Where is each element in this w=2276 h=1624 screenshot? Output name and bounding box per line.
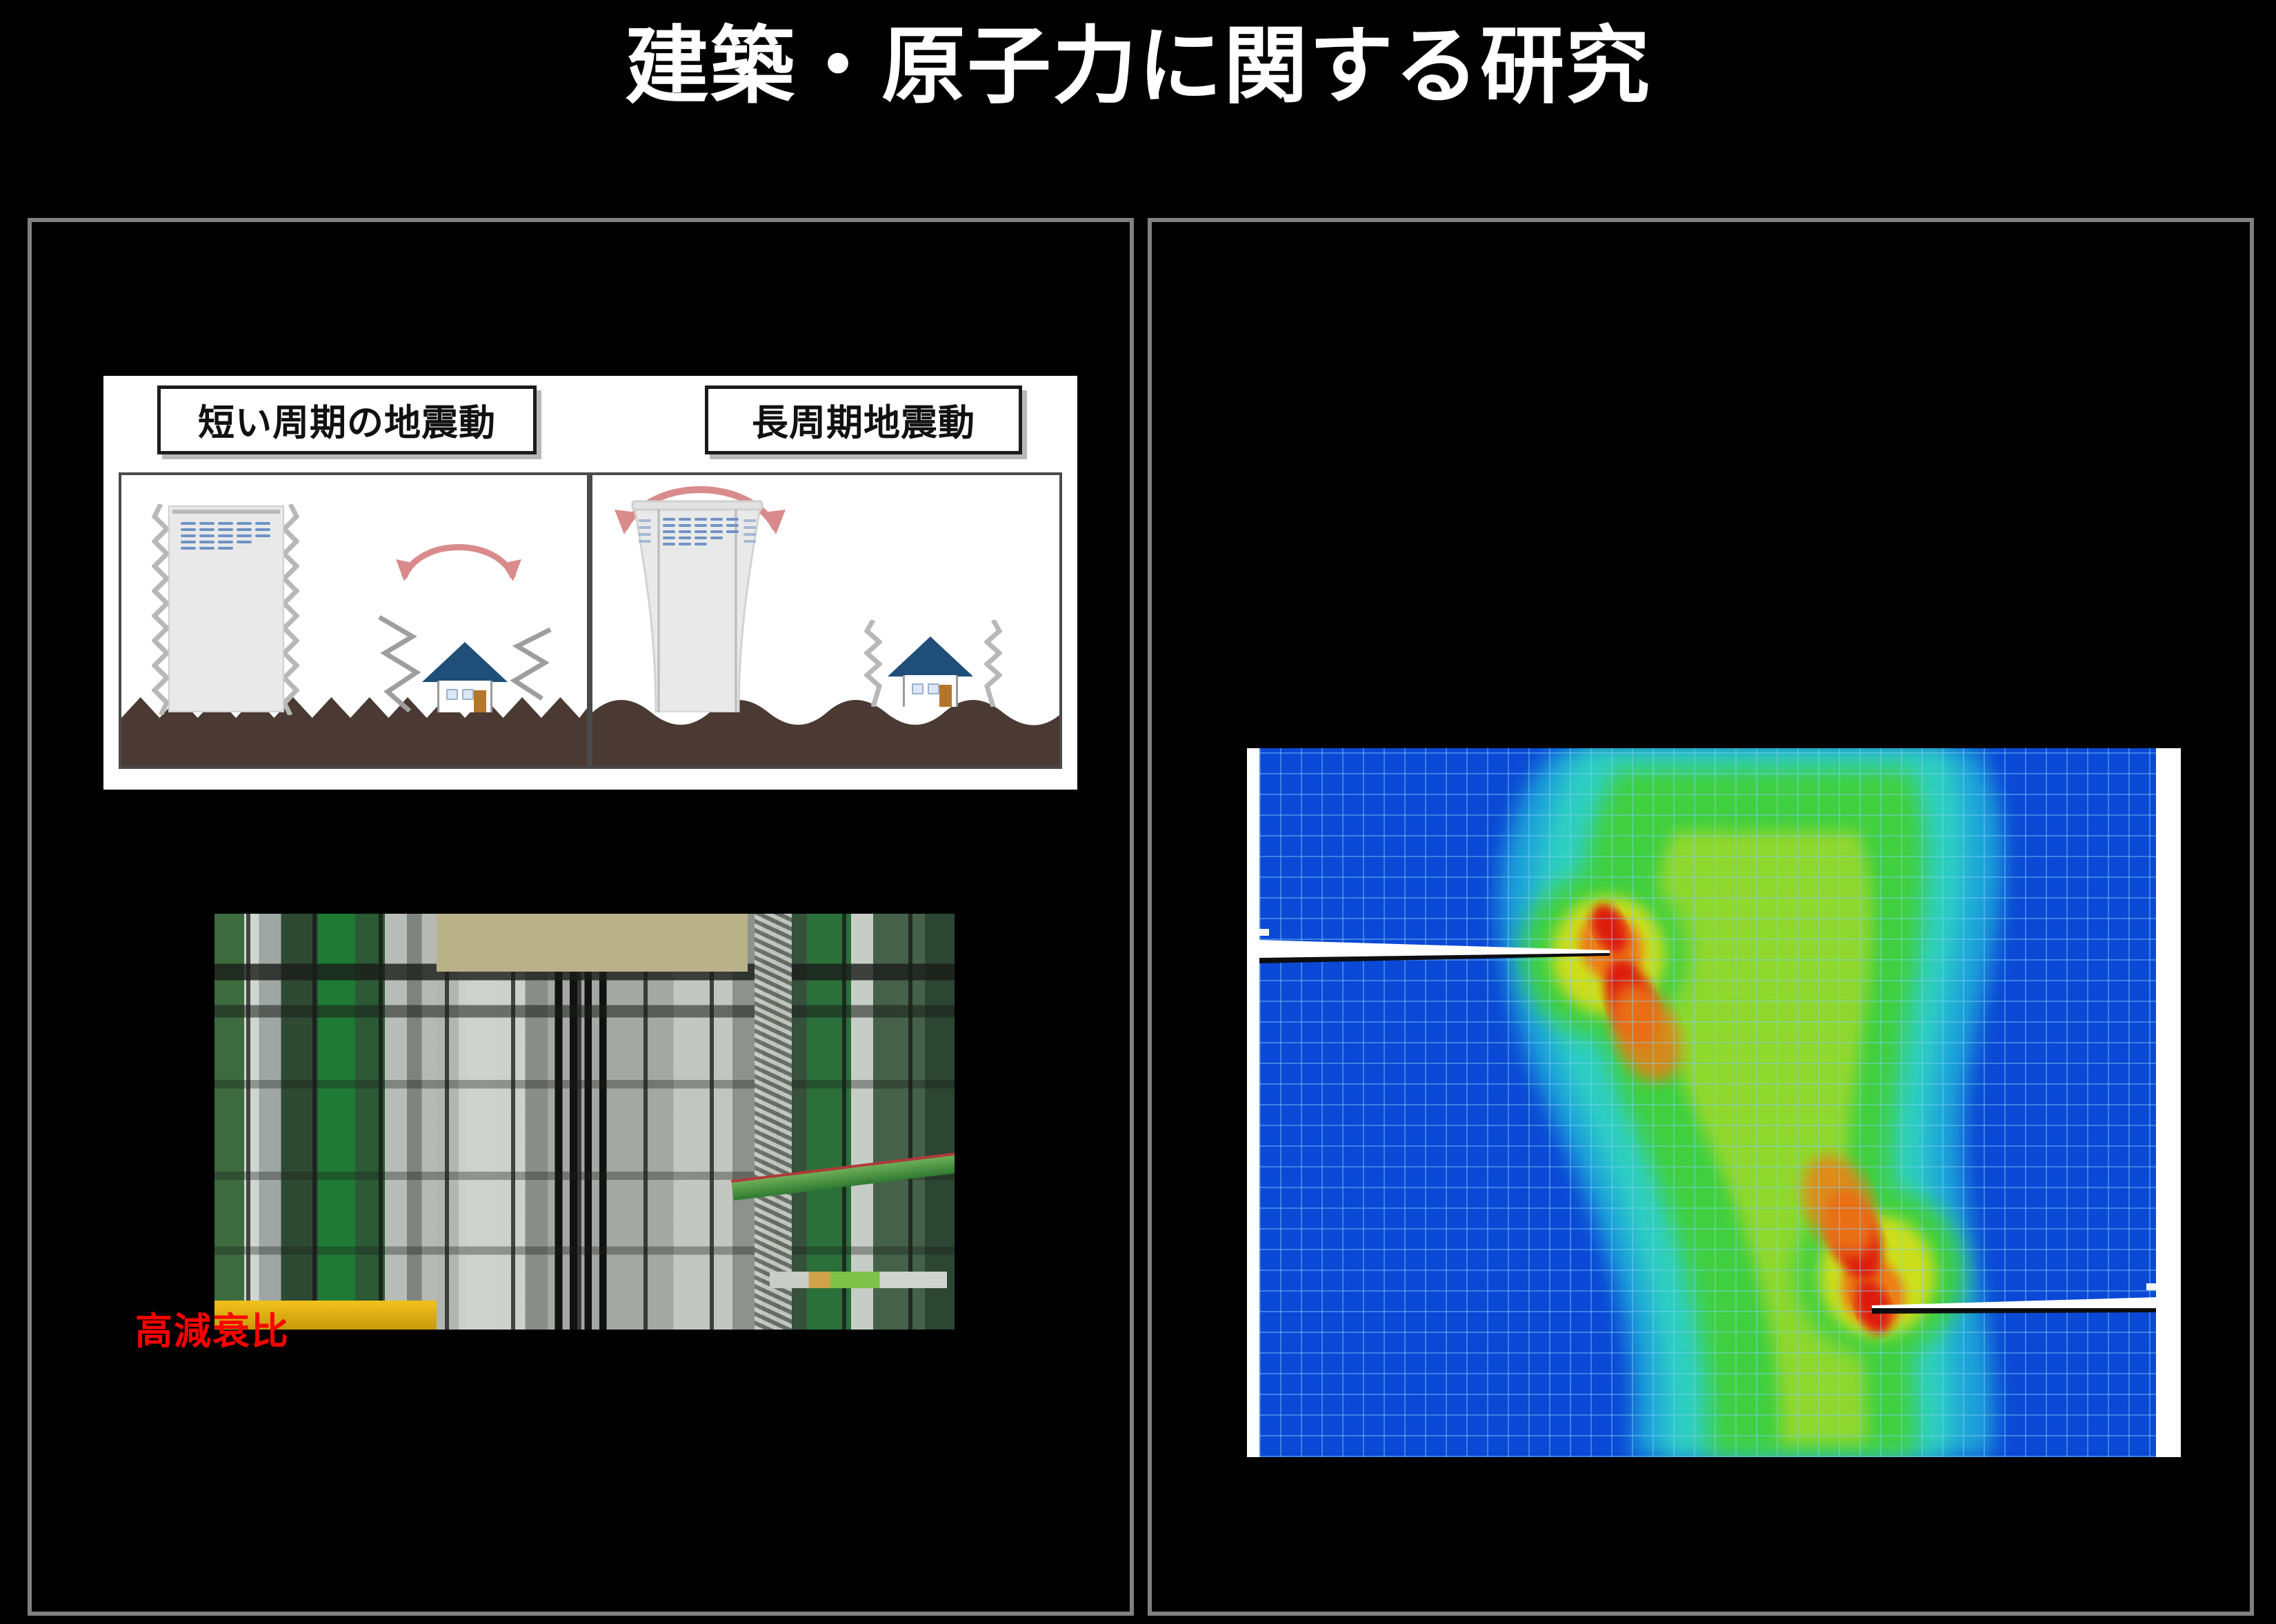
shock-line-icon [505,623,553,714]
high-damping-ratio-annotation: 高減衰比 [135,1301,290,1355]
house-window-icon [462,689,474,700]
house-door-icon [939,685,952,707]
caption-short-period-motion: 短い周期の地震動 [157,385,537,454]
building-window-grid [181,522,270,550]
lower-crack-mouth [2146,1283,2156,1290]
low-rise-house [422,642,508,714]
house-body [437,681,492,712]
page-title: 建築・原子力に関する研究 [0,22,2276,110]
diagram-caption-row: 短い周期の地震動 長周期地震動 [103,385,1077,460]
house-roof-icon [888,636,973,676]
tower-edge-window-grid [639,519,651,543]
house-body [903,675,958,707]
house-window-icon [446,689,458,700]
vibration-squiggle-icon [864,620,882,707]
photo-top-panel [437,914,748,972]
fem-stress-contour-plot [1259,748,2156,1457]
building-roof-line [172,510,280,514]
vibration-squiggle-icon [984,620,1002,707]
right-content-panel [1148,218,2254,1616]
shaking-table-damper-specimen-photo [214,914,955,1330]
house-door-icon [474,690,486,712]
house-roof-icon [422,642,508,682]
upper-left-crack [1259,933,1618,970]
tall-building-straight [168,505,284,712]
sway-arrow-icon [395,532,523,585]
tower-window-grid [663,518,739,545]
low-rise-house [888,636,973,708]
house-window-icon [928,683,939,694]
shock-line-icon [377,609,425,714]
scene-short-period [119,472,590,769]
tower-edge-window-grid [743,519,756,543]
fem-crack-stress-contour-figure [1247,748,2181,1457]
vibration-squiggle-icon [152,504,170,715]
photo-wire-rope [755,914,792,1330]
tall-building-swaying [628,499,766,712]
house-window-icon [912,683,924,694]
left-content-panel: 短い周期の地震動 長周期地震動 [28,218,1134,1616]
photo-horizontal-framing [214,914,955,1330]
upper-crack-mouth [1259,929,1269,936]
fem-capture-noise [1259,748,2156,1457]
lower-right-crack [1869,1287,2156,1325]
caption-long-period-motion: 長周期地震動 [705,385,1022,454]
photo-taped-rod [770,1272,948,1288]
scene-long-period [590,472,1062,769]
seismic-concept-diagram: 短い周期の地震動 長周期地震動 [103,376,1077,790]
